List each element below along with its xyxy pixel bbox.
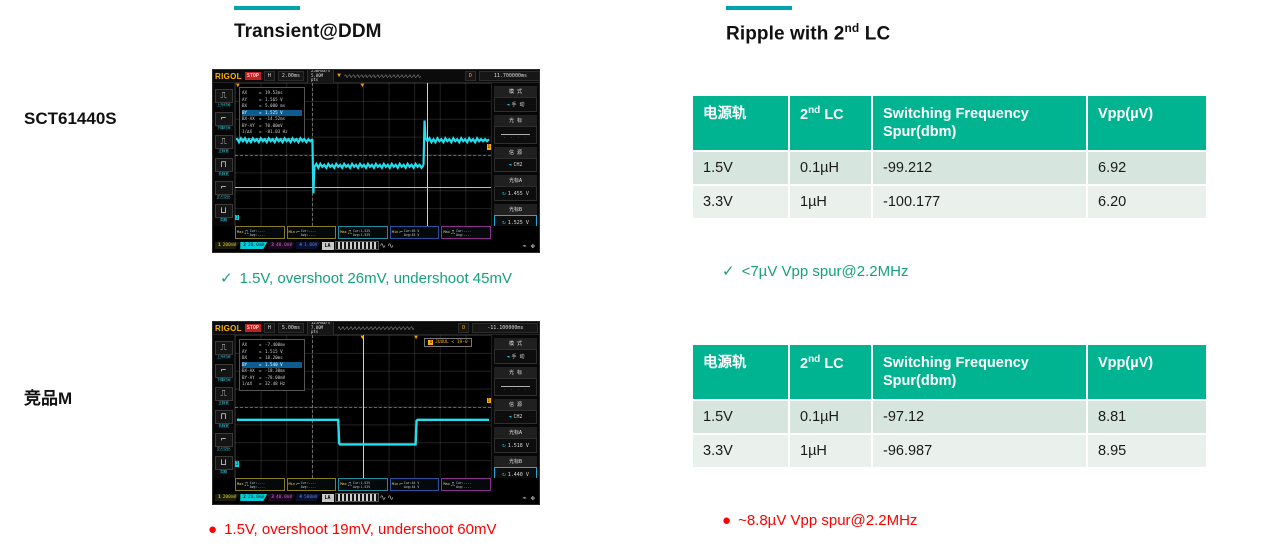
cursor-dash-icon: - - - - (504, 387, 528, 392)
caption-transient-sct61440s: ✓ 1.5V, overshoot 26mV, undershoot 45mV (220, 270, 512, 287)
scope2-measure-rise-time[interactable]: ⎍ 上升时间 (215, 341, 233, 362)
table1-r0-lc: 0.1µH (789, 151, 872, 185)
scope2-cursor-a-button[interactable]: 光标A ↻1.518 V (494, 427, 537, 453)
scope2-measure-pos-width[interactable]: ⎍ 正脉宽 (215, 387, 233, 408)
scope1-cursor-a-label: 光标A (494, 175, 537, 186)
scope2-meas-cell[interactable]: Min⌐Cur:----Avg:---- (287, 478, 337, 491)
table1-r1-lc: 1µH (789, 185, 872, 218)
column-header-transient: Transient@DDM (234, 6, 382, 43)
rise-time-icon: ⎍ (215, 89, 233, 103)
scope2-meas-cell[interactable]: Min⌐Cur:44 VAvg:44 V (390, 478, 440, 491)
rigol-logo: RIGOL (215, 324, 242, 333)
scope2-measure-fall-time-label: 下降时间 (215, 378, 233, 383)
scope2-cursor-b-label: 光标B (494, 456, 537, 467)
scope2-mem-depth: 7.00M pts (311, 325, 323, 334)
pos-width-icon: ⎍ (215, 387, 233, 401)
pos-duty-icon: ⌐ (215, 181, 233, 195)
sct61440s-ripple-table: 电源轨 2nd LC Switching FrequencySpur(dbm) … (693, 96, 1206, 218)
competitor-m-ripple-table: 电源轨 2nd LC Switching FrequencySpur(dbm) … (693, 345, 1206, 467)
fall-time-icon: ⌐ (215, 112, 233, 126)
knob-icon: ↻ (502, 442, 506, 449)
table1-r1-rail: 3.3V (693, 185, 789, 218)
column-title-ripple-sup: nd (844, 21, 859, 35)
check-icon: ✓ (722, 264, 735, 279)
table-row: 3.3V 1µH -96.987 8.95 (693, 434, 1206, 467)
scope1-cursor-b-value: 1.525 V (508, 220, 529, 226)
scope2-source2-icon[interactable]: ∿ (387, 494, 394, 502)
scope2-cursor-mode-button[interactable]: 模 式 ◄手 动 (494, 338, 537, 364)
scope2-la-button[interactable]: LA (322, 494, 334, 502)
scope1-la-button[interactable]: LA (322, 242, 334, 250)
table2-col-spur: Switching FrequencySpur(dbm) (872, 345, 1087, 400)
scope2-zoom-waveform-preview: ∿∿∿∿∿∿∿∿∿∿∿∿∿∿∿∿∿∿∿ (337, 325, 455, 332)
scope2-timebase-label: H (264, 323, 275, 333)
scope2-measure-pos-width-label: 正脉宽 (215, 401, 233, 406)
scope2-measure-period-label: 周期 (215, 470, 233, 475)
scope1-source-button[interactable]: 信 源 ◄CH2 (494, 147, 537, 172)
column-header-ripple: Ripple with 2nd LC (726, 6, 890, 45)
pulse-icon: ⎍ (451, 482, 455, 488)
scope1-cursor-a-value: 1.455 V (508, 191, 529, 197)
scope1-measure-fall-time-label: 下降时间 (215, 126, 233, 131)
scope2-cursor-a-value: 1.518 V (508, 443, 529, 449)
scope1-cursor-b-label: 光标B (494, 204, 537, 215)
scope1-meas-cell[interactable]: Min⌐Cur:----Avg:---- (287, 226, 337, 239)
scope2-measure-rise-time-label: 上升时间 (215, 355, 233, 360)
neg-width-icon: ⊓ (215, 158, 233, 172)
scope2-measure-neg-width-label: 负脉宽 (215, 424, 233, 429)
scope1-delay-label: D (465, 71, 476, 81)
scope2-cursor-type-button[interactable]: 光 标 - - - - (494, 367, 537, 396)
accent-bar-transient (234, 6, 300, 10)
scope1-cursor-type-label: 光 标 (494, 115, 537, 126)
pulse-icon: ⌐ (296, 482, 300, 488)
scope2-channel-1[interactable]: 1200mV (215, 494, 239, 501)
scope1-measure-neg-width-label: 负脉宽 (215, 172, 233, 177)
scope2-source1-icon[interactable]: ∿ (380, 494, 387, 502)
pulse-icon: ⎍ (348, 230, 352, 236)
table2-r0-spur: -97.12 (872, 400, 1087, 434)
caption-ripple-sct61440s-text: <7µV Vpp spur@2.2MHz (742, 263, 909, 280)
caption-ripple-competitor-m: ● ~8.8µV Vpp spur@2.2MHz (722, 512, 917, 529)
competitor-m-transient-scope[interactable]: RIGOL STOP H 5.00ms 125MSa/s 7.00M pts ∿… (212, 321, 540, 505)
period-icon: ⊔ (215, 456, 233, 470)
accent-bar-ripple (726, 6, 792, 10)
scope2-left-menu[interactable]: ⎍ 上升时间 ⌐ 下降时间 ⎍ 正脉宽 ⊓ 负脉宽 ⌐ 正占空比 ⊔ 周期 (213, 335, 235, 478)
pulse-icon: ⎍ (245, 482, 249, 488)
pos-width-icon: ⎍ (215, 135, 233, 149)
scope1-meas-cell[interactable]: Max⎍Cur:1.52VAvg:1.52V (338, 226, 388, 239)
scope2-delay-label: D (458, 323, 469, 333)
chevron-left-icon: ◄ (508, 414, 511, 420)
scope1-meas-cell[interactable]: Max⎍Cur:----Avg:---- (235, 226, 285, 239)
scope2-measure-neg-width[interactable]: ⊓ 负脉宽 (215, 410, 233, 431)
column-title-transient-text: Transient@DDM (234, 21, 382, 42)
scope1-meas-cell[interactable]: Min⌐Cur:45 VAvg:45 V (390, 226, 440, 239)
scope1-waveform-trace (235, 83, 491, 226)
scope1-measure-fall-time[interactable]: ⌐ 下降时间 (215, 112, 233, 133)
scope2-waveform-trace (235, 335, 491, 478)
table2-r1-rail: 3.3V (693, 434, 789, 467)
table1-r1-vpp: 6.20 (1087, 185, 1206, 218)
scope2-cursor-type-label: 光 标 (494, 367, 537, 378)
neg-width-icon: ⊓ (215, 410, 233, 424)
scope1-cursor-a-button[interactable]: 光标A ↻1.455 V (494, 175, 537, 201)
scope1-timebase-value[interactable]: 2.00ms (278, 71, 304, 81)
table2-col-vpp: Vpp(µV) (1087, 345, 1206, 400)
scope1-measure-rise-time[interactable]: ⎍ 上升时间 (215, 89, 233, 110)
scope1-source-value: CH2 (513, 162, 522, 168)
table2-r1-lc: 1µH (789, 434, 872, 467)
scope1-mem-depth: 5.00M pts (311, 73, 323, 82)
bullet-icon: ● (208, 522, 217, 537)
scope1-cursor-mode-value: 手 动 (512, 101, 525, 108)
scope1-source1-icon[interactable]: ∿ (380, 242, 387, 250)
row-label-sct61440s: SCT61440S (24, 109, 117, 129)
column-title-ripple: Ripple with 2nd LC (726, 21, 890, 45)
scope2-cursor-b-value: 1.440 V (508, 472, 529, 478)
pulse-icon: ⎍ (245, 230, 249, 236)
scope2-meas-cell[interactable]: Max⎍Cur:----Avg:---- (441, 478, 491, 491)
rise-time-icon: ⎍ (215, 341, 233, 355)
cursor-dash-icon: - - - - (504, 135, 528, 140)
scope1-timebase-label: H (264, 71, 275, 81)
scope1-measure-period[interactable]: ⊔ 周期 (215, 204, 233, 225)
table-row: 1.5V 0.1µH -97.12 8.81 (693, 400, 1206, 434)
scope1-measure-pos-duty[interactable]: ⌐ 正占空比 (215, 181, 233, 202)
scope1-zoom-waveform-preview: ∿∿∿∿∿∿∿∿∿∿∿∿∿∿∿∿∿∿∿ (344, 73, 462, 80)
scope1-waveform-area[interactable]: AX=19.52ms AY=1.565 V BX=5.000 ms BY=1.5… (235, 83, 491, 226)
pulse-icon: ⎍ (348, 482, 352, 488)
scope1-channel-1[interactable]: 1200mV (215, 242, 239, 249)
scope2-channel-2[interactable]: 220.0mV (240, 494, 267, 501)
bullet-icon: ● (722, 513, 731, 528)
scope1-cursor-mode-label: 模 式 (494, 86, 537, 97)
scope1-meas-cell[interactable]: Max⎍Cur:----Avg:---- (441, 226, 491, 239)
table1-header-row: 电源轨 2nd LC Switching FrequencySpur(dbm) … (693, 96, 1206, 151)
scope1-bottom-bar: Max⎍Cur:----Avg:---- Min⌐Cur:----Avg:---… (213, 226, 539, 252)
scope2-bottom-bar: Max⎍Cur:----Avg:---- Min⌐Cur:----Avg:---… (213, 478, 539, 504)
table1-col-lc: 2nd LC (789, 96, 872, 151)
scope2-measure-pos-duty[interactable]: ⌐ 正占空比 (215, 433, 233, 454)
table1-col-spur: Switching FrequencySpur(dbm) (872, 96, 1087, 151)
pulse-icon: ⌐ (399, 482, 403, 488)
scope1-measure-pos-width[interactable]: ⎍ 正脉宽 (215, 135, 233, 156)
pulse-icon: ⌐ (399, 230, 403, 236)
table2-col-lc: 2nd LC (789, 345, 872, 400)
scope2-utility-icons[interactable]: ⌁ ✥ (522, 494, 537, 502)
table1-col-vpp: Vpp(µV) (1087, 96, 1206, 151)
table1-r0-rail: 1.5V (693, 151, 789, 185)
scope1-cursor-type-button[interactable]: 光 标 - - - - (494, 115, 537, 144)
scope1-digital-bits[interactable] (335, 241, 379, 250)
table2-header-row: 电源轨 2nd LC Switching FrequencySpur(dbm) … (693, 345, 1206, 400)
caption-transient-competitor-m: ● 1.5V, overshoot 19mV, undershoot 60mV (208, 521, 496, 538)
caption-ripple-competitor-m-text: ~8.8µV Vpp spur@2.2MHz (738, 512, 917, 529)
scope2-source-value: CH2 (513, 414, 522, 420)
scope2-digital-bits[interactable] (335, 493, 379, 502)
chevron-left-icon: ◄ (506, 354, 509, 360)
scope2-meas-cell[interactable]: Max⎍Cur:----Avg:---- (235, 478, 285, 491)
scope1-measurement-strip[interactable]: Max⎍Cur:----Avg:---- Min⌐Cur:----Avg:---… (235, 226, 491, 239)
scope2-delay-value[interactable]: -11.100000ms (472, 323, 538, 333)
scope1-delay-value[interactable]: 11.700000ms (479, 71, 540, 81)
column-title-ripple-text: Ripple with 2 (726, 23, 844, 44)
scope1-top-bar: RIGOL STOP H 2.00ms 250MSa/s 5.00M pts ▼… (213, 70, 539, 83)
scope2-measurement-strip[interactable]: Max⎍Cur:----Avg:---- Min⌐Cur:----Avg:---… (235, 478, 491, 491)
scope1-source2-icon[interactable]: ∿ (387, 242, 394, 250)
table-row: 3.3V 1µH -100.177 6.20 (693, 185, 1206, 218)
pulse-icon: ⎍ (451, 230, 455, 236)
scope1-channel-2[interactable]: 220.0mV (240, 242, 267, 249)
knob-icon: ↻ (502, 471, 506, 478)
scope2-source-button[interactable]: 信 源 ◄CH2 (494, 399, 537, 424)
chevron-left-icon: ◄ (506, 102, 509, 108)
caption-transient-sct61440s-text: 1.5V, overshoot 26mV, undershoot 45mV (240, 270, 512, 287)
scope1-cursor-mode-button[interactable]: 模 式 ◄手 动 (494, 86, 537, 112)
caption-ripple-sct61440s: ✓ <7µV Vpp spur@2.2MHz (722, 263, 908, 280)
scope1-utility-icons[interactable]: ⌁ ✥ (522, 242, 537, 250)
knob-icon: ↻ (502, 219, 506, 226)
scope2-channel-4[interactable]: 4500mV (296, 494, 320, 501)
scope2-waveform-area[interactable]: AX=-7.400mv AY=1.515 V BX=18.20ms BY=1.5… (235, 335, 491, 478)
scope2-source-label: 信 源 (494, 399, 537, 410)
table2-col-rail: 电源轨 (693, 345, 789, 400)
column-title-transient: Transient@DDM (234, 21, 382, 43)
scope2-top-bar: RIGOL STOP H 5.00ms 125MSa/s 7.00M pts ∿… (213, 322, 539, 335)
scope2-cursor-mode-label: 模 式 (494, 338, 537, 349)
scope2-measure-pos-duty-label: 正占空比 (215, 447, 233, 452)
scope1-measure-pos-duty-label: 正占空比 (215, 195, 233, 200)
scope1-trig-pos-marker: ▼ (337, 73, 341, 79)
scope1-measure-pos-width-label: 正脉宽 (215, 149, 233, 154)
column-title-ripple-suffix: LC (859, 23, 890, 44)
chevron-left-icon: ◄ (508, 162, 511, 168)
table1-r0-spur: -99.212 (872, 151, 1087, 185)
scope2-measure-period[interactable]: ⊔ 周期 (215, 456, 233, 477)
sct61440s-transient-scope[interactable]: RIGOL STOP H 2.00ms 250MSa/s 5.00M pts ▼… (212, 69, 540, 253)
scope2-cursor-mode-value: 手 动 (512, 353, 525, 360)
period-icon: ⊔ (215, 204, 233, 218)
scope1-left-menu[interactable]: ⎍ 上升时间 ⌐ 下降时间 ⎍ 正脉宽 ⊓ 负脉宽 ⌐ 正占空比 ⊔ 周期 (213, 83, 235, 226)
fall-time-icon: ⌐ (215, 364, 233, 378)
table-row: 1.5V 0.1µH -99.212 6.92 (693, 151, 1206, 185)
scope1-measure-neg-width[interactable]: ⊓ 负脉宽 (215, 158, 233, 179)
scope1-channel-3[interactable]: 340.0mV (268, 242, 295, 249)
scope2-right-menu[interactable]: 模 式 ◄手 动 光 标 - - - - 信 源 ◄CH2 光标A ↻1.518… (491, 335, 539, 478)
caption-transient-competitor-m-text: 1.5V, overshoot 19mV, undershoot 60mV (224, 521, 496, 538)
scope1-channel-4[interactable]: 41.00V (296, 242, 320, 249)
table1-r1-spur: -100.177 (872, 185, 1087, 218)
scope1-measure-period-label: 周期 (215, 218, 233, 223)
scope1-run-state[interactable]: STOP (245, 72, 261, 80)
table2-r1-vpp: 8.95 (1087, 434, 1206, 467)
scope2-cursor-a-label: 光标A (494, 427, 537, 438)
row-label-competitor-m: 竞品M (24, 384, 72, 409)
pos-duty-icon: ⌐ (215, 433, 233, 447)
table1-r0-vpp: 6.92 (1087, 151, 1206, 185)
scope2-channel-3[interactable]: 340.0mV (268, 494, 295, 501)
table2-r1-spur: -96.987 (872, 434, 1087, 467)
table2-r0-rail: 1.5V (693, 400, 789, 434)
scope2-run-state[interactable]: STOP (245, 324, 261, 332)
scope1-right-menu[interactable]: 模 式 ◄手 动 光 标 - - - - 信 源 ◄CH2 光标A ↻1.455… (491, 83, 539, 226)
pulse-icon: ⌐ (296, 230, 300, 236)
scope2-measure-fall-time[interactable]: ⌐ 下降时间 (215, 364, 233, 385)
table2-r0-vpp: 8.81 (1087, 400, 1206, 434)
scope1-channel-strip[interactable]: 1200mV 220.0mV 340.0mV 41.00V LA ∿ ∿ ⌁ ✥ (213, 239, 539, 252)
scope2-meas-cell[interactable]: Max⎍Cur:1.52VAvg:1.52V (338, 478, 388, 491)
rigol-logo: RIGOL (215, 72, 242, 81)
check-icon: ✓ (220, 271, 233, 286)
scope1-measure-rise-time-label: 上升时间 (215, 103, 233, 108)
scope1-source-label: 信 源 (494, 147, 537, 158)
table1-col-rail: 电源轨 (693, 96, 789, 151)
table2-r0-lc: 0.1µH (789, 400, 872, 434)
knob-icon: ↻ (502, 190, 506, 197)
scope2-channel-strip[interactable]: 1200mV 220.0mV 340.0mV 4500mV LA ∿ ∿ ⌁ ✥ (213, 491, 539, 504)
scope2-timebase-value[interactable]: 5.00ms (278, 323, 304, 333)
